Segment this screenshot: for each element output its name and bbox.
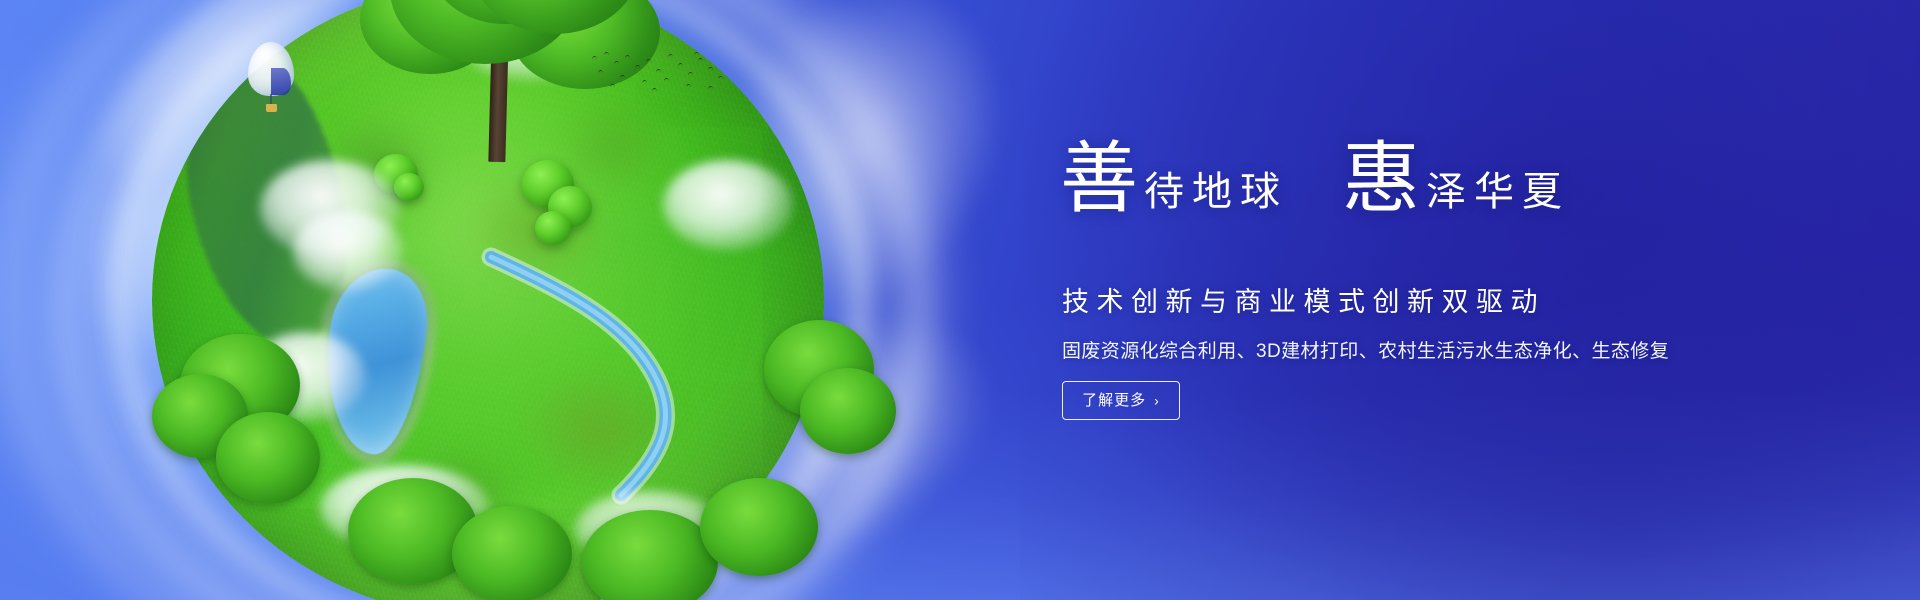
description-text: 固废资源化综合利用、3D建材打印、农村生活污水生态净化、生态修复	[1062, 336, 1669, 363]
rim-tree	[452, 506, 572, 600]
birds-flock-icon	[590, 50, 730, 94]
learn-more-label: 了解更多	[1082, 393, 1146, 408]
tree-cluster	[535, 211, 571, 245]
globe-cloud	[663, 160, 793, 250]
rim-tree	[700, 478, 818, 576]
banner-content: 善待地球惠泽华夏 技术创新与商业模式创新双驱动 固废资源化综合利用、3D建材打印…	[1060, 0, 1860, 600]
tree-cluster	[394, 173, 424, 201]
balloon-stripe	[271, 68, 291, 95]
headline: 善待地球惠泽华夏	[1060, 140, 1570, 218]
headline-text-secondary-1: 待地球	[1144, 169, 1288, 215]
chevron-right-icon: ›	[1154, 393, 1160, 407]
rim-tree	[800, 368, 896, 454]
balloon-basket	[266, 104, 277, 112]
headline-char-primary-1: 善	[1060, 134, 1138, 224]
headline-text-secondary-2: 泽华夏	[1426, 169, 1570, 215]
globe-cloud	[293, 211, 403, 291]
hot-air-balloon-icon	[248, 42, 294, 120]
headline-char-primary-2: 惠	[1342, 134, 1420, 224]
rim-tree	[216, 412, 320, 504]
subtitle: 技术创新与商业模式创新双驱动	[1062, 280, 1545, 319]
river	[501, 249, 801, 499]
learn-more-button[interactable]: 了解更多 ›	[1062, 381, 1180, 420]
hero-banner: 善待地球惠泽华夏 技术创新与商业模式创新双驱动 固废资源化综合利用、3D建材打印…	[0, 0, 1920, 600]
